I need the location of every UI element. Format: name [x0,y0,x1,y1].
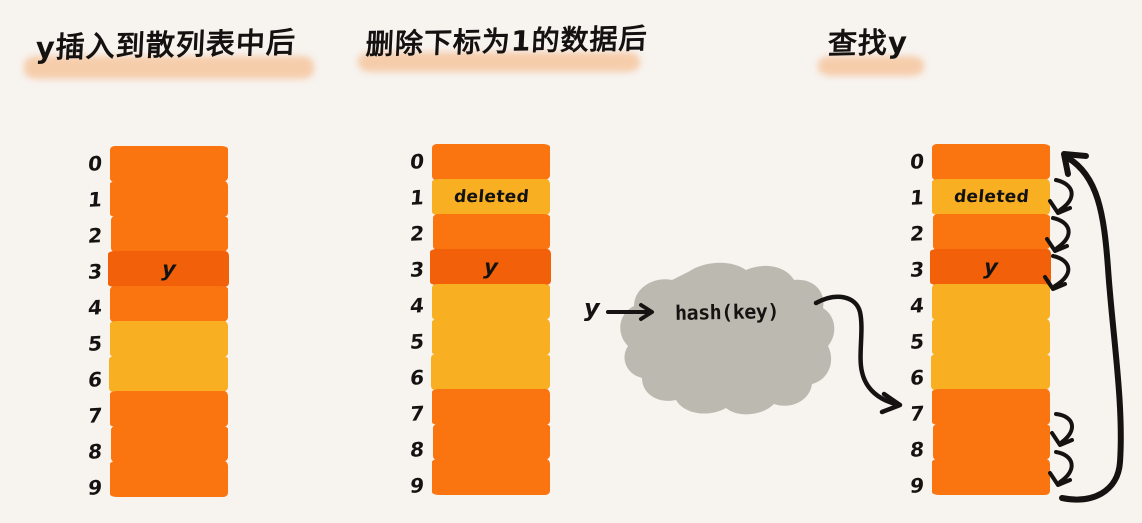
index-label: 3 [892,251,925,289]
table-cell[interactable]: y [930,249,1051,285]
index-label: 5 [392,323,425,361]
index-label: 9 [70,469,103,507]
table-cell[interactable] [433,214,550,250]
index-label: 0 [892,143,925,181]
index-label: 0 [70,145,103,183]
table-cell[interactable] [432,389,550,425]
table-cell[interactable] [431,354,550,390]
table-cell[interactable] [109,356,228,392]
cell-key-label: y [983,255,999,279]
table-cell[interactable] [110,321,228,357]
cell-state-label: deleted [453,187,530,207]
panel-title-search-text: 查找y [827,19,909,63]
index-label: 7 [392,395,425,433]
index-label: 3 [70,253,103,291]
table-cell[interactable] [433,424,550,460]
index-label: 8 [70,433,103,471]
index-label: 1 [392,179,425,217]
hash-table-insert: y [110,146,228,496]
index-label: 4 [392,287,425,325]
hash-input-key-label: y [584,294,600,322]
probe-hop-8-to-9-icon [1050,452,1072,485]
panel-title-delete: 删除下标为1的数据后 [366,20,647,60]
index-label: 5 [70,325,103,363]
index-label: 3 [392,251,425,289]
index-label: 2 [892,215,925,253]
table-cell[interactable] [110,146,228,182]
panel-title-insert: y插入到散列表中后 [36,22,296,64]
table-cell[interactable] [432,319,550,355]
index-label: 1 [70,181,103,219]
table-cell[interactable]: deleted [932,179,1050,215]
cell-state-label: deleted [953,187,1030,207]
table-cell[interactable] [110,181,228,217]
table-cell[interactable] [432,144,550,180]
probe-hop-0-to-1-icon [1050,180,1072,213]
table-cell[interactable] [932,319,1050,355]
index-gutter-search: 0123456789 [894,144,924,504]
index-label: 7 [70,397,103,435]
index-gutter-insert: 0123456789 [72,146,102,506]
index-gutter-delete: 0123456789 [394,144,424,504]
index-label: 6 [70,361,103,399]
index-label: 9 [892,467,925,505]
index-label: 4 [892,287,925,325]
index-label: 2 [70,217,103,255]
index-label: 8 [392,431,425,469]
table-cell[interactable] [432,459,550,495]
index-label: 4 [70,289,103,327]
panel-title-search: 查找y [828,20,908,62]
index-label: 5 [892,323,925,361]
hash-function-label: hash(key) [675,299,779,325]
table-cell[interactable] [931,354,1050,390]
table-cell[interactable] [932,284,1050,320]
table-cell[interactable] [432,284,550,320]
index-label: 2 [392,215,425,253]
probe-wrap-9-to-0-icon [1062,154,1121,500]
table-cell[interactable]: deleted [432,179,550,215]
table-cell[interactable]: y [430,249,551,285]
table-cell[interactable] [933,214,1050,250]
table-cell[interactable] [932,144,1050,180]
index-label: 0 [392,143,425,181]
index-label: 1 [892,179,925,217]
table-cell[interactable] [932,459,1050,495]
table-cell[interactable] [110,461,228,497]
probe-hop-7-to-8-icon [1052,414,1072,445]
hash-function-block: y hash(key) [580,258,880,438]
panel-title-insert-text: y插入到散列表中后 [35,19,297,66]
table-cell[interactable] [110,391,228,427]
cell-key-label: y [483,255,499,279]
cell-key-label: y [161,257,177,281]
index-label: 8 [892,431,925,469]
table-cell[interactable] [110,286,228,322]
hash-table-search: deletedy [932,144,1050,494]
hash-table-delete: deletedy [432,144,550,494]
table-cell[interactable] [933,424,1050,460]
index-label: 6 [892,359,925,397]
table-cell[interactable]: y [108,251,229,287]
table-cell[interactable] [932,389,1050,425]
index-label: 9 [392,467,425,505]
table-cell[interactable] [111,426,228,462]
panel-title-delete-text: 删除下标为1的数据后 [365,17,649,63]
cloud-shape-icon [580,258,880,438]
index-label: 6 [392,359,425,397]
probe-hop-1-to-2-icon [1047,218,1069,251]
table-cell[interactable] [111,216,228,252]
index-label: 7 [892,395,925,433]
diagram-canvas: y插入到散列表中后 删除下标为1的数据后 查找y 0123456789 0123… [0,0,1142,523]
